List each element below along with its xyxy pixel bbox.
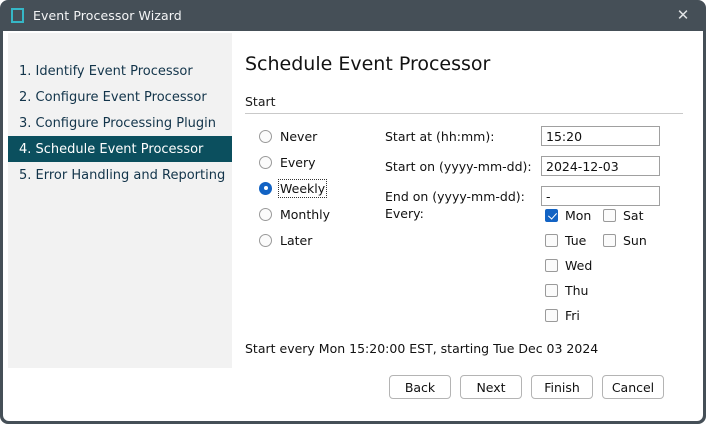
start-at-label: Start at (hh:mm):: [385, 129, 541, 144]
sidebar-item-identify-event-processor[interactable]: 1. Identify Event Processor: [8, 58, 232, 84]
checkbox-icon: [603, 209, 616, 222]
wizard-button-bar: Back Next Finish Cancel: [389, 375, 664, 399]
cancel-button[interactable]: Cancel: [602, 375, 664, 399]
radio-circle-icon: [259, 234, 272, 247]
checkbox-label: Thu: [565, 283, 588, 298]
checkbox-icon: [545, 259, 558, 272]
start-at-input[interactable]: [541, 126, 660, 146]
radio-option-never[interactable]: Never: [259, 123, 379, 149]
radio-circle-icon: [259, 130, 272, 143]
radio-option-monthly[interactable]: Monthly: [259, 201, 379, 227]
checkbox-icon: [545, 284, 558, 297]
checkbox-label: Sun: [623, 233, 647, 248]
weekday-column-weekend: Sat Sun: [603, 203, 661, 328]
next-button[interactable]: Next: [460, 375, 522, 399]
radio-circle-selected-icon: [259, 182, 272, 195]
client-area: 1. Identify Event Processor 2. Configure…: [3, 31, 703, 421]
sidebar-item-error-handling-and-reporting[interactable]: 5. Error Handling and Reporting: [8, 162, 232, 188]
end-on-label: End on (yyyy-mm-dd):: [385, 189, 541, 204]
radio-circle-icon: [259, 156, 272, 169]
page-title: Schedule Event Processor: [245, 53, 490, 75]
close-icon[interactable]: ✕: [660, 0, 706, 31]
checkbox-label: Tue: [565, 233, 586, 248]
finish-button[interactable]: Finish: [531, 375, 593, 399]
sidebar-item-label: 1. Identify Event Processor: [19, 64, 193, 79]
field-row-start-at: Start at (hh:mm):: [385, 123, 685, 149]
sidebar-item-configure-event-processor[interactable]: 2. Configure Event Processor: [8, 84, 232, 110]
checkbox-row-fri[interactable]: Fri: [545, 303, 603, 328]
radio-label: Monthly: [280, 207, 330, 222]
back-button[interactable]: Back: [389, 375, 451, 399]
radio-label: Later: [280, 233, 312, 248]
weekday-checkbox-columns: Mon Tue Wed Thu: [545, 203, 685, 328]
checkbox-row-mon[interactable]: Mon: [545, 203, 603, 228]
radio-circle-icon: [259, 208, 272, 221]
wizard-window: Event Processor Wizard ✕ 1. Identify Eve…: [0, 0, 706, 424]
schedule-type-radio-group: Never Every Weekly Monthly Later: [259, 123, 379, 253]
radio-option-weekly[interactable]: Weekly: [259, 175, 379, 201]
window-title: Event Processor Wizard: [33, 8, 182, 23]
wizard-step-sidebar: 1. Identify Event Processor 2. Configure…: [8, 33, 232, 368]
schedule-fields: Start at (hh:mm): Start on (yyyy-mm-dd):…: [385, 123, 685, 213]
weekday-column-weekdays: Mon Tue Wed Thu: [545, 203, 603, 328]
app-square-icon: [11, 8, 24, 23]
start-on-input[interactable]: [541, 156, 660, 176]
content-pane: Schedule Event Processor Start Never Eve…: [241, 31, 696, 421]
checkbox-row-sun[interactable]: Sun: [603, 228, 661, 253]
checkbox-icon: [545, 309, 558, 322]
radio-option-later[interactable]: Later: [259, 227, 379, 253]
start-on-label: Start on (yyyy-mm-dd):: [385, 159, 541, 174]
checkbox-checked-icon: [545, 209, 558, 222]
checkbox-row-thu[interactable]: Thu: [545, 278, 603, 303]
radio-option-every[interactable]: Every: [259, 149, 379, 175]
field-row-start-on: Start on (yyyy-mm-dd):: [385, 153, 685, 179]
sidebar-item-label: 4. Schedule Event Processor: [19, 142, 203, 157]
checkbox-row-tue[interactable]: Tue: [545, 228, 603, 253]
radio-label: Weekly: [280, 181, 325, 196]
checkbox-label: Fri: [565, 308, 580, 323]
checkbox-label: Mon: [565, 208, 591, 223]
checkbox-icon: [545, 234, 558, 247]
checkbox-label: Sat: [623, 208, 644, 223]
sidebar-item-label: 2. Configure Event Processor: [19, 90, 207, 105]
sidebar-item-configure-processing-plugin[interactable]: 3. Configure Processing Plugin: [8, 110, 232, 136]
sidebar-item-label: 5. Error Handling and Reporting: [19, 168, 225, 183]
radio-label: Every: [280, 155, 316, 170]
radio-label: Never: [280, 129, 317, 144]
title-bar: Event Processor Wizard ✕: [0, 0, 706, 31]
schedule-summary-text: Start every Mon 15:20:00 EST, starting T…: [245, 341, 598, 356]
checkbox-icon: [603, 234, 616, 247]
sidebar-item-schedule-event-processor[interactable]: 4. Schedule Event Processor: [8, 136, 232, 162]
checkbox-row-wed[interactable]: Wed: [545, 253, 603, 278]
start-group-label: Start: [245, 94, 276, 109]
checkbox-label: Wed: [565, 258, 592, 273]
group-separator: [245, 113, 683, 114]
every-label: Every:: [385, 206, 424, 221]
sidebar-item-label: 3. Configure Processing Plugin: [19, 116, 216, 131]
checkbox-row-sat[interactable]: Sat: [603, 203, 661, 228]
